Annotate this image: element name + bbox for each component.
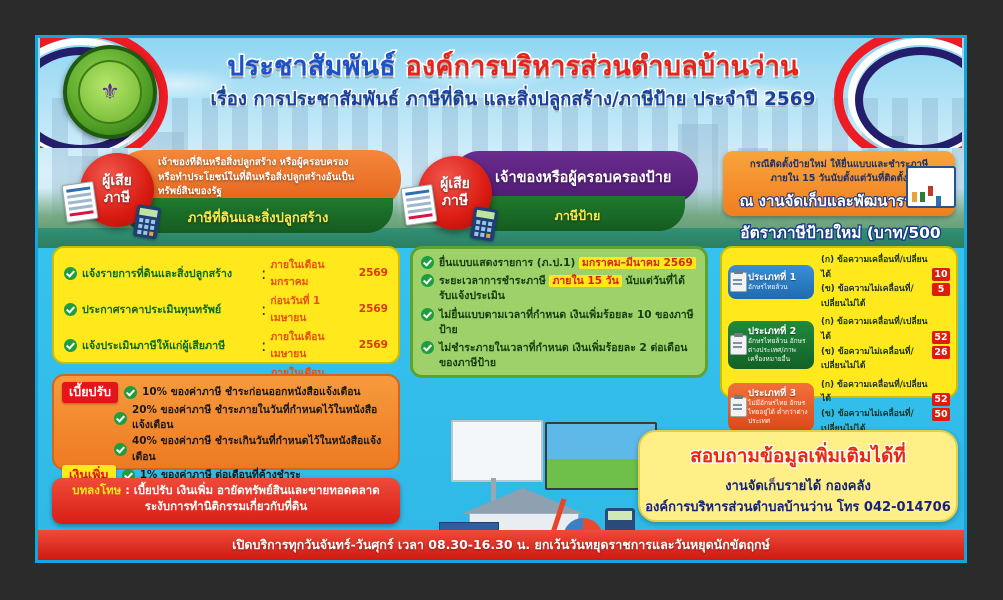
service-hours-bar: เปิดบริการทุกวันจันทร์-วันศุกร์ เวลา 08.…: [38, 530, 964, 560]
punishment-banner: บทลงโทษ : เบี้ยปรับ เงินเพิ่ม อายัดทรัพย…: [52, 478, 400, 524]
page-subtitle: เรื่อง การประชาสัมพันธ์ ภาษีที่ดิน และสิ…: [163, 85, 863, 114]
rate-type-3-values: 52 50: [932, 393, 950, 421]
contact-box: สอบถามข้อมูลเพิ่มเติมได้ที่ งานจัดเก็บรา…: [638, 430, 958, 522]
rate-type-name: ประเภทที่ 1: [748, 272, 810, 283]
rate-type-desc: อักษรไทยล้วน อักษรต่างประเทศ/ภาพ เครื่อง…: [748, 337, 810, 364]
sign-badge-line2: ภาษี: [442, 193, 468, 211]
sign-rule-pre: ไม่ชำระภายในเวลาที่กำหนด เงินเพิ่มร้อยละ…: [439, 341, 697, 371]
land-payer-line-1: หรือทำประโยชน์ในที่ดินหรือสิ่งปลูกสร้างอ…: [158, 171, 393, 186]
document-icon-2: [401, 184, 438, 226]
poster-canvas: ⚜ ประชาสัมพันธ์ องค์การบริหารส่วนตำบลบ้า…: [35, 35, 967, 563]
calculator-icon-2: [470, 206, 499, 241]
penalty-row: เบี้ยปรับ 10% ของค่าภาษี ชำระก่อนออกหนัง…: [62, 382, 390, 403]
check-icon: [114, 443, 127, 456]
rate-table-row: ประเภทที่ 2 อักษรไทยล้วน อักษรต่างประเทศ…: [728, 315, 950, 373]
schedule-label: แจ้งรายการที่ดินและสิ่งปลูกสร้าง: [82, 265, 257, 282]
rate-type-desc: อักษรไทยล้วน: [748, 283, 810, 292]
page-title: ประชาสัมพันธ์ องค์การบริหารส่วนตำบลบ้านว…: [163, 52, 863, 114]
rate-item: (ก) ข้อความเคลื่อนที่/เปลี่ยนได้: [821, 253, 932, 282]
rate-value: 50: [932, 408, 950, 421]
schedule-label: แจ้งประเมินภาษีให้แก่ผู้เสียภาษี: [82, 337, 257, 354]
sign-rule-item: ระยะเวลาการชำระภาษี ภายใน 15 วัน นับแต่ว…: [421, 274, 697, 304]
fine-label: เบี้ยปรับ: [62, 382, 118, 403]
check-icon: [64, 267, 77, 280]
bar-chart-monitor-icon: [906, 166, 956, 208]
house-roof: [461, 488, 585, 514]
sign-badge-line1: ผู้เสีย: [440, 176, 470, 194]
rate-item: (ก) ข้อความเคลื่อนที่/เปลี่ยนได้: [821, 315, 932, 344]
rate-type-name: ประเภทที่ 2: [748, 326, 810, 337]
clipboard-check-icon: [730, 335, 747, 355]
title-primary: ประชาสัมพันธ์: [227, 51, 405, 82]
check-icon: [64, 303, 77, 316]
check-icon: [114, 412, 127, 425]
rate-type-3-items: (ก) ข้อความเคลื่อนที่/เปลี่ยนได้ (ข) ข้อ…: [814, 378, 932, 436]
check-icon: [421, 256, 434, 269]
clipboard-check-icon: [730, 397, 747, 417]
rate-type-1: ประเภทที่ 1 อักษรไทยล้วน: [728, 265, 814, 299]
punishment-line-2: ระงับการทำนิติกรรมเกี่ยวกับที่ดิน: [60, 499, 392, 515]
rate-type-2: ประเภทที่ 2 อักษรไทยล้วน อักษรต่างประเทศ…: [728, 321, 814, 369]
rate-value: 52: [932, 331, 950, 344]
schedule-separator: :: [261, 336, 266, 355]
rate-item: (ก) ข้อความเคลื่อนที่/เปลี่ยนได้: [821, 378, 932, 407]
check-icon: [421, 308, 434, 321]
schedule-year: 2569: [359, 267, 388, 279]
penalty-card: เบี้ยปรับ 10% ของค่าภาษี ชำระก่อนออกหนัง…: [52, 374, 400, 470]
schedule-row: แจ้งประเมินภาษีให้แก่ผู้เสียภาษี : ภายใน…: [64, 328, 388, 362]
sign-rule-highlight: มกราคม–มีนาคม 2569: [579, 257, 696, 269]
clipboard-check-icon: [730, 272, 747, 292]
sign-rule-pre: ระยะเวลาการชำระภาษี: [439, 275, 549, 287]
rate-table-row: ประเภทที่ 3 ไม่มีอักษรไทย อักษรไทยอยู่ได…: [728, 378, 950, 436]
sign-rate-table: ประเภทที่ 1 อักษรไทยล้วน (ก) ข้อความเคลื…: [720, 246, 958, 398]
calculator-icon: [133, 204, 162, 239]
service-hours-text: เปิดบริการทุกวันจันทร์-วันศุกร์ เวลา 08.…: [232, 535, 770, 555]
title-org: องค์การบริหารส่วนตำบลบ้านว่าน: [406, 51, 799, 82]
penalty-row: 40% ของค่าภาษี ชำระเกินวันที่กำหนดไว้ในห…: [62, 434, 390, 465]
sign-tax-rules-card: ยื่นแบบแสดงรายการ (ภ.ป.1) มกราคม–มีนาคม …: [410, 246, 708, 378]
schedule-row: แจ้งรายการที่ดินและสิ่งปลูกสร้าง : ภายใน…: [64, 256, 388, 290]
rate-type-desc: ไม่มีอักษรไทย อักษรไทยอยู่ได้ ต่ำกว่าต่า…: [748, 399, 810, 426]
sign-rule-item: ไม่ยื่นแบบตามเวลาที่กำหนด เงินเพิ่มร้อยล…: [421, 308, 697, 338]
schedule-row: ประกาศราคาประเมินทุนทรัพย์ : ก่อนวันที่ …: [64, 292, 388, 326]
check-icon: [124, 386, 137, 399]
organization-logo: ⚜: [63, 45, 157, 139]
land-tax-schedule-card: แจ้งรายการที่ดินและสิ่งปลูกสร้าง : ภายใน…: [52, 246, 400, 364]
rate-value: 52: [932, 393, 950, 406]
taxpayer-badge-line2: ภาษี: [104, 190, 130, 208]
rate-value: 10: [932, 268, 950, 281]
sign-payer-text: เจ้าของหรือผู้ครอบครองป้าย: [495, 166, 671, 189]
contact-line-2: องค์การบริหารส่วนตำบลบ้านว่าน โทร 042-01…: [640, 498, 956, 518]
blank-billboard: [451, 420, 543, 482]
logo-emblem-icon: ⚜: [78, 60, 142, 124]
punishment-line-1: : เบี้ยปรับ เงินเพิ่ม อายัดทรัพย์สินและข…: [125, 483, 379, 497]
rate-value: 26: [932, 346, 950, 359]
fine-item: 10% ของค่าภาษี ชำระก่อนออกหนังสือแจ้งเตื…: [142, 385, 360, 401]
rate-type-2-items: (ก) ข้อความเคลื่อนที่/เปลี่ยนได้ (ข) ข้อ…: [814, 315, 932, 373]
penalty-row: 20% ของค่าภาษี ชำระภายในวันที่กำหนดไว้ใน…: [62, 403, 390, 434]
rate-item: (ข) ข้อความไม่เคลื่อนที่/เปลี่ยนไม่ได้: [821, 282, 932, 311]
rate-type-1-items: (ก) ข้อความเคลื่อนที่/เปลี่ยนได้ (ข) ข้อ…: [814, 253, 932, 311]
check-icon: [421, 274, 434, 287]
sign-tax-category-label: ภาษีป้าย: [470, 196, 685, 231]
schedule-year: 2569: [359, 303, 388, 315]
check-icon: [64, 339, 77, 352]
sign-rule-pre: ยื่นแบบแสดงรายการ (ภ.ป.1): [439, 257, 579, 269]
check-icon: [421, 341, 434, 354]
document-icon: [62, 181, 99, 223]
rate-type-1-values: 10 5: [932, 268, 950, 296]
schedule-separator: :: [261, 300, 266, 319]
rate-value: 5: [932, 283, 950, 296]
rate-item: (ข) ข้อความไม่เคลื่อนที่/เปลี่ยนไม่ได้: [821, 345, 932, 374]
schedule-separator: :: [261, 264, 266, 283]
sign-rule-highlight: ภายใน 15 วัน: [549, 275, 621, 287]
land-tax-category-label: ภาษีที่ดินและสิ่งปลูกสร้าง: [123, 198, 393, 233]
sign-rule-pre: ไม่ยื่นแบบตามเวลาที่กำหนด เงินเพิ่มร้อยล…: [439, 308, 697, 338]
schedule-value: ภายในเดือน เมษายน: [270, 328, 358, 362]
rate-type-name: ประเภทที่ 3: [748, 388, 810, 399]
punishment-label: บทลงโทษ: [72, 483, 121, 497]
contact-line-1: งานจัดเก็บรายได้ กองคลัง: [640, 477, 956, 497]
rate-type-2-values: 52 26: [932, 331, 950, 359]
land-payer-line-0: เจ้าของที่ดินหรือสิ่งปลูกสร้าง หรือผู้คร…: [158, 156, 393, 171]
contact-heading: สอบถามข้อมูลเพิ่มเติมได้ที่: [640, 441, 956, 471]
fine-item: 40% ของค่าภาษี ชำระเกินวันที่กำหนดไว้ในห…: [132, 434, 390, 465]
rate-type-3: ประเภทที่ 3 ไม่มีอักษรไทย อักษรไทยอยู่ได…: [728, 383, 814, 431]
fine-item: 20% ของค่าภาษี ชำระภายในวันที่กำหนดไว้ใน…: [132, 403, 390, 434]
taxpayer-badge-line1: ผู้เสีย: [102, 173, 132, 191]
schedule-value: ภายในเดือน มกราคม: [270, 256, 358, 290]
schedule-value: ก่อนวันที่ 1 เมษายน: [270, 292, 358, 326]
schedule-year: 2569: [359, 339, 388, 351]
sign-rule-item: ไม่ชำระภายในเวลาที่กำหนด เงินเพิ่มร้อยละ…: [421, 341, 697, 371]
schedule-label: ประกาศราคาประเมินทุนทรัพย์: [82, 301, 257, 318]
sign-rule-item: ยื่นแบบแสดงรายการ (ภ.ป.1) มกราคม–มีนาคม …: [421, 256, 697, 271]
rate-table-row: ประเภทที่ 1 อักษรไทยล้วน (ก) ข้อความเคลื…: [728, 253, 950, 311]
